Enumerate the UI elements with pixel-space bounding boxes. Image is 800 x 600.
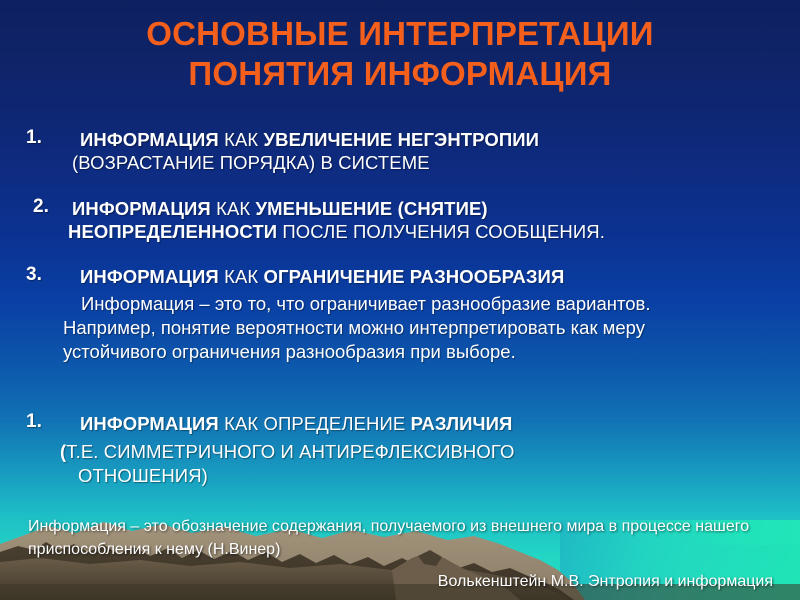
list-item-2-subline: НЕОПРЕДЕЛЕННОСТИ ПОСЛЕ ПОЛУЧЕНИЯ СООБЩЕН… <box>68 220 794 243</box>
list-item-4-term: ИНФОРМАЦИЯ <box>80 413 219 434</box>
list-item-2-subline-bold: НЕОПРЕДЕЛЕННОСТИ <box>68 221 277 242</box>
list-item-2-predicate: УМЕНЬШЕНИЕ (СНЯТИЕ) <box>256 198 488 219</box>
list-item-1-connector: КАК <box>224 129 258 150</box>
list-item-2: ИНФОРМАЦИЯ КАК УМЕНЬШЕНИЕ (СНЯТИЕ) <box>72 197 782 220</box>
list-item-4-connector: КАК ОПРЕДЕЛЕНИЕ <box>224 413 405 434</box>
list-item-4-number: 1. <box>26 411 42 433</box>
list-item-1-term: ИНФОРМАЦИЯ <box>80 129 219 150</box>
list-item-3-connector: КАК <box>224 266 258 287</box>
list-item-1-number: 1. <box>26 127 42 149</box>
list-item-1-subline: (ВОЗРАСТАНИЕ ПОРЯДКА) В СИСТЕМЕ <box>72 151 792 174</box>
list-item-3: ИНФОРМАЦИЯ КАК ОГРАНИЧЕНИЕ РАЗНООБРАЗИЯ <box>80 265 780 288</box>
list-item-2-subline-rest: ПОСЛЕ ПОЛУЧЕНИЯ СООБЩЕНИЯ. <box>282 221 605 242</box>
list-item-3-predicate: ОГРАНИЧЕНИЕ РАЗНООБРАЗИЯ <box>264 266 565 287</box>
list-item-2-connector: КАК <box>216 198 250 219</box>
footer-source: Волькенштейн М.В. Энтропия и информация <box>28 570 773 593</box>
list-item-4-subline-2: ОТНОШЕНИЯ) <box>78 464 798 487</box>
presentation-slide: ОСНОВНЫЕ ИНТЕРПРЕТАЦИИ ПОНЯТИЯ ИНФОРМАЦИ… <box>0 0 800 600</box>
list-item-1: ИНФОРМАЦИЯ КАК УВЕЛИЧЕНИЕ НЕГЭНТРОПИИ <box>80 128 780 151</box>
list-item-4: ИНФОРМАЦИЯ КАК ОПРЕДЕЛЕНИЕ РАЗЛИЧИЯ <box>80 412 780 435</box>
list-item-4-predicate: РАЗЛИЧИЯ <box>411 413 513 434</box>
list-item-2-number: 2. <box>33 196 49 218</box>
slide-body: 1. ИНФОРМАЦИЯ КАК УВЕЛИЧЕНИЕ НЕГЭНТРОПИИ… <box>0 0 800 600</box>
list-item-3-number: 3. <box>26 264 42 286</box>
list-item-4-subline-text: Т.Е. СИММЕТРИЧНОГО И АНТИРЕФЛЕКСИВНОГО <box>66 441 514 462</box>
list-item-2-term: ИНФОРМАЦИЯ <box>72 198 211 219</box>
footer-quote: Информация – это обозначение содержания,… <box>28 515 773 561</box>
list-item-4-subline: (Т.Е. СИММЕТРИЧНОГО И АНТИРЕФЛЕКСИВНОГО <box>60 440 800 463</box>
list-item-3-term: ИНФОРМАЦИЯ <box>80 266 219 287</box>
list-item-1-predicate: УВЕЛИЧЕНИЕ НЕГЭНТРОПИИ <box>264 129 540 150</box>
list-item-3-paragraph: Информация – это то, что ограничивает ра… <box>63 292 663 364</box>
